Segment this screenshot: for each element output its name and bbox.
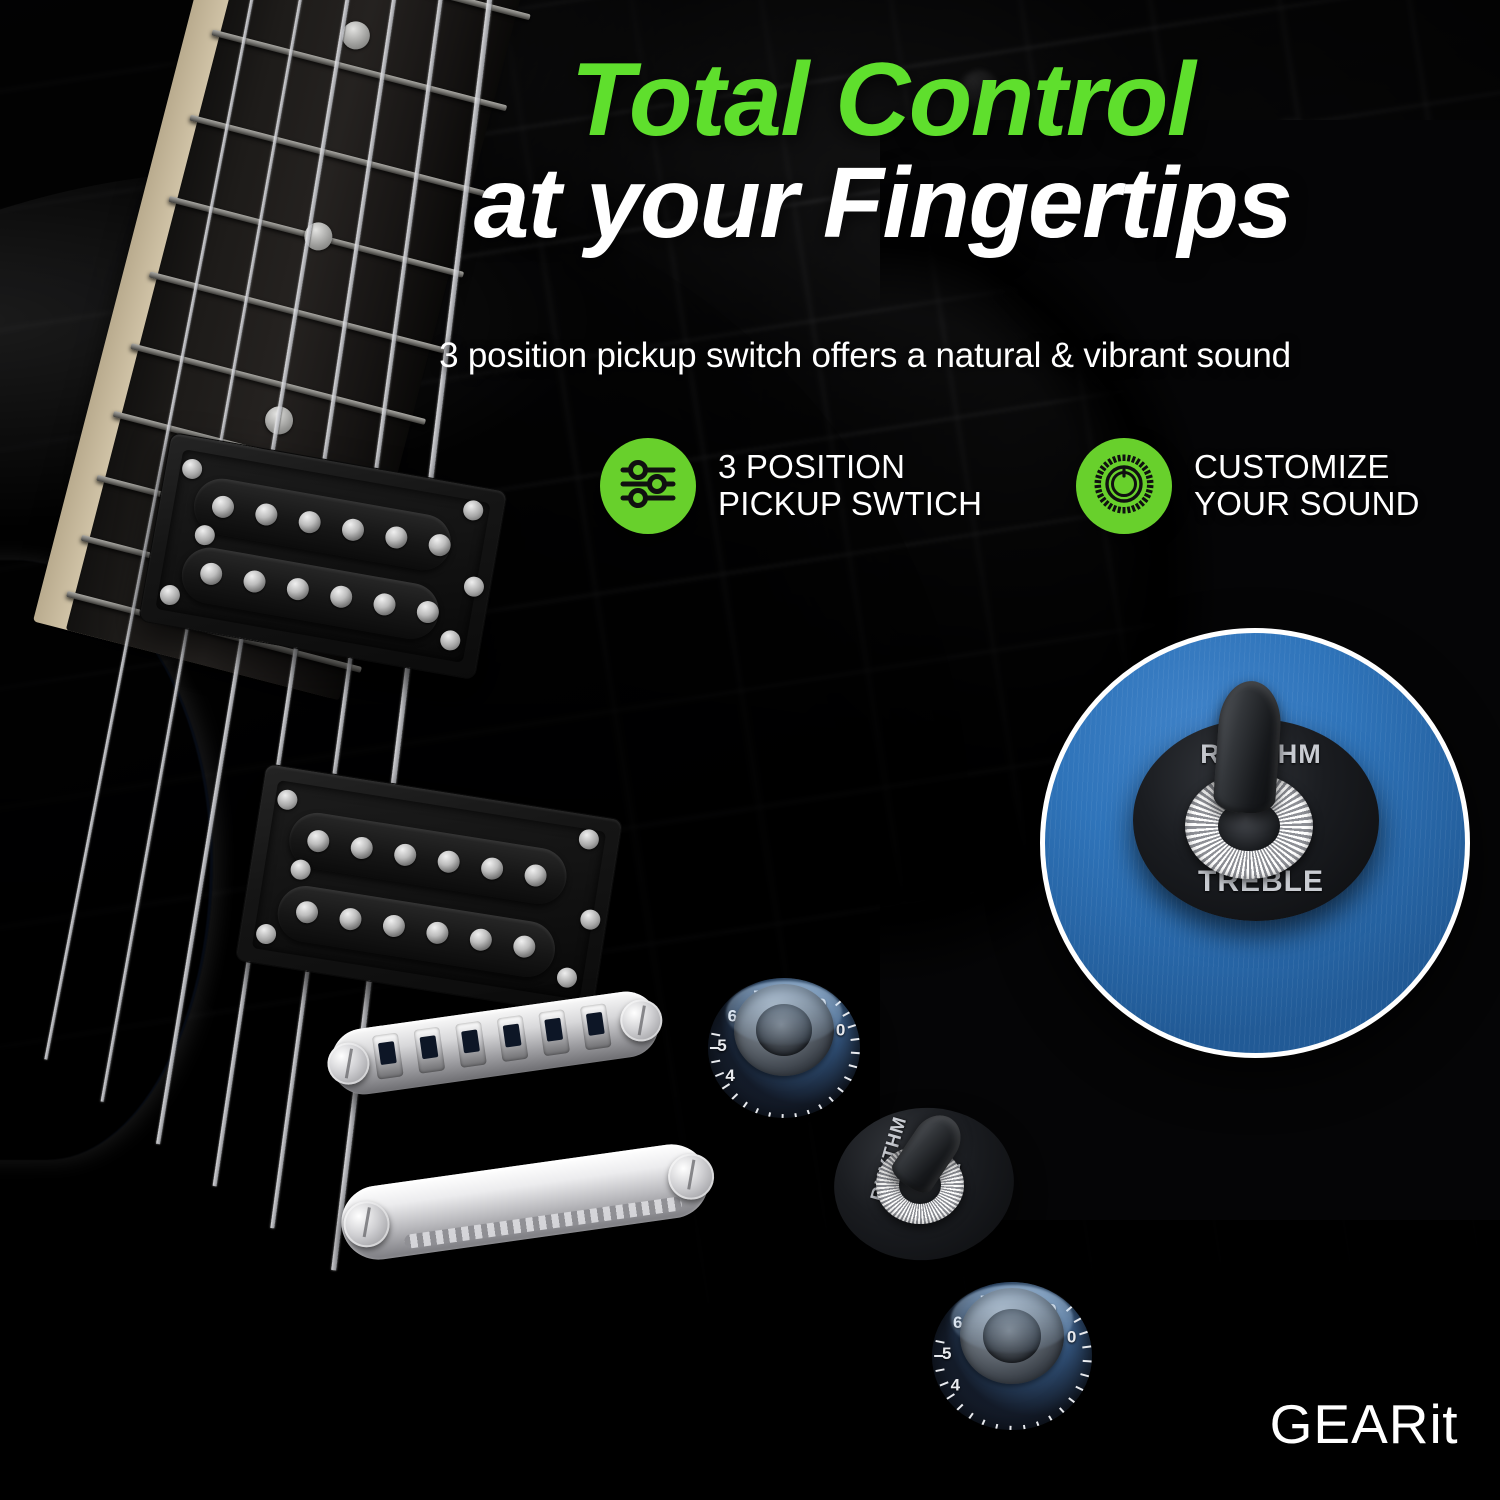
feature-badges: 3 POSITION PICKUP SWTICH CUSTOMIZE YOUR … bbox=[600, 424, 1500, 554]
knob-tick bbox=[741, 1102, 748, 1111]
knob-tick bbox=[754, 1108, 759, 1117]
knob-tick bbox=[715, 1072, 724, 1077]
knob-tick bbox=[1074, 1317, 1083, 1323]
bridge-saddle bbox=[413, 1027, 445, 1074]
knob-tick bbox=[730, 1093, 738, 1101]
headline-line-1: Total Control bbox=[300, 52, 1465, 150]
subheadline: 3 position pickup switch offers a natura… bbox=[240, 336, 1490, 376]
knob-tick bbox=[828, 1096, 836, 1104]
knob-tick bbox=[767, 1112, 771, 1118]
knob-tick bbox=[1079, 1331, 1088, 1336]
knob-tick bbox=[1023, 1425, 1026, 1430]
bridge-saddle bbox=[455, 1021, 487, 1068]
knob-tick bbox=[980, 1419, 985, 1428]
knob-tick bbox=[994, 1424, 998, 1430]
knob-tick bbox=[1009, 1426, 1011, 1430]
knob-tick bbox=[967, 1413, 974, 1422]
knob-tick bbox=[781, 1114, 783, 1118]
feature-label: CUSTOMIZE YOUR SOUND bbox=[1194, 449, 1420, 523]
knob-tick bbox=[721, 1083, 730, 1090]
switch-detail-inset: RHYTHM TREBLE bbox=[1040, 628, 1470, 1058]
knob-tick bbox=[848, 1024, 857, 1029]
knob-tick bbox=[711, 1060, 720, 1064]
knob-gloss-highlight bbox=[951, 1285, 1073, 1353]
knob-tick bbox=[934, 1355, 943, 1357]
knob-tick bbox=[935, 1340, 944, 1344]
knob-tick bbox=[1075, 1386, 1084, 1392]
knob-tick bbox=[940, 1381, 949, 1386]
feature-item-pickup-switch: 3 POSITION PICKUP SWTICH bbox=[600, 438, 982, 534]
knob-number: 5 bbox=[942, 1344, 951, 1364]
knob-tick bbox=[946, 1393, 955, 1400]
knob-tick bbox=[1082, 1345, 1091, 1348]
knob-tick bbox=[710, 1047, 719, 1049]
feature-badge-circle bbox=[1076, 438, 1172, 534]
knob-tick bbox=[1048, 1415, 1054, 1424]
knob-tick bbox=[851, 1052, 860, 1055]
brand-logo: GEARit bbox=[1270, 1392, 1458, 1456]
knob-number: 4 bbox=[951, 1376, 960, 1396]
knob-tick bbox=[1036, 1421, 1041, 1430]
feature-item-customize-sound: CUSTOMIZE YOUR SOUND bbox=[1076, 438, 1420, 534]
knob-gloss-highlight bbox=[726, 981, 842, 1045]
knob-tick bbox=[794, 1113, 797, 1118]
product-marketing-image: 4567890 4567890 RHYTHM TRE Total Control… bbox=[0, 0, 1500, 1500]
knob-tick bbox=[849, 1064, 858, 1068]
knob-tick bbox=[1080, 1373, 1089, 1377]
knob-tick bbox=[711, 1033, 720, 1037]
knob-tick bbox=[956, 1404, 964, 1412]
brand-name-upper: GEAR bbox=[1270, 1393, 1430, 1455]
knob-tick bbox=[837, 1087, 845, 1094]
feature-label: 3 POSITION PICKUP SWTICH bbox=[718, 449, 982, 523]
knob-tick bbox=[1068, 1397, 1076, 1404]
knob-tick bbox=[807, 1110, 812, 1118]
bridge-saddle bbox=[372, 1032, 404, 1079]
headline-line-2: at your Fingertips bbox=[300, 156, 1465, 250]
knob-tick bbox=[842, 1011, 851, 1017]
tailpiece-post-screw bbox=[341, 1198, 393, 1250]
brand-name-lower: it bbox=[1430, 1393, 1459, 1455]
tone-knob[interactable]: 4567890 bbox=[708, 978, 860, 1118]
volume-knob[interactable]: 4567890 bbox=[932, 1282, 1092, 1430]
knob-dial-icon bbox=[1091, 451, 1157, 522]
feature-badge-circle bbox=[600, 438, 696, 534]
bridge-saddle bbox=[497, 1015, 529, 1062]
knob-tick bbox=[844, 1076, 853, 1082]
knob-tick bbox=[850, 1038, 859, 1041]
knob-tick bbox=[818, 1104, 824, 1113]
knob-tick bbox=[935, 1368, 944, 1372]
bridge-saddle bbox=[580, 1003, 612, 1050]
headline-block: Total Control at your Fingertips bbox=[300, 52, 1465, 250]
knob-tick bbox=[1083, 1360, 1092, 1363]
sliders-icon bbox=[617, 453, 679, 520]
knob-tick bbox=[1059, 1407, 1067, 1415]
bridge-saddle bbox=[538, 1009, 570, 1056]
